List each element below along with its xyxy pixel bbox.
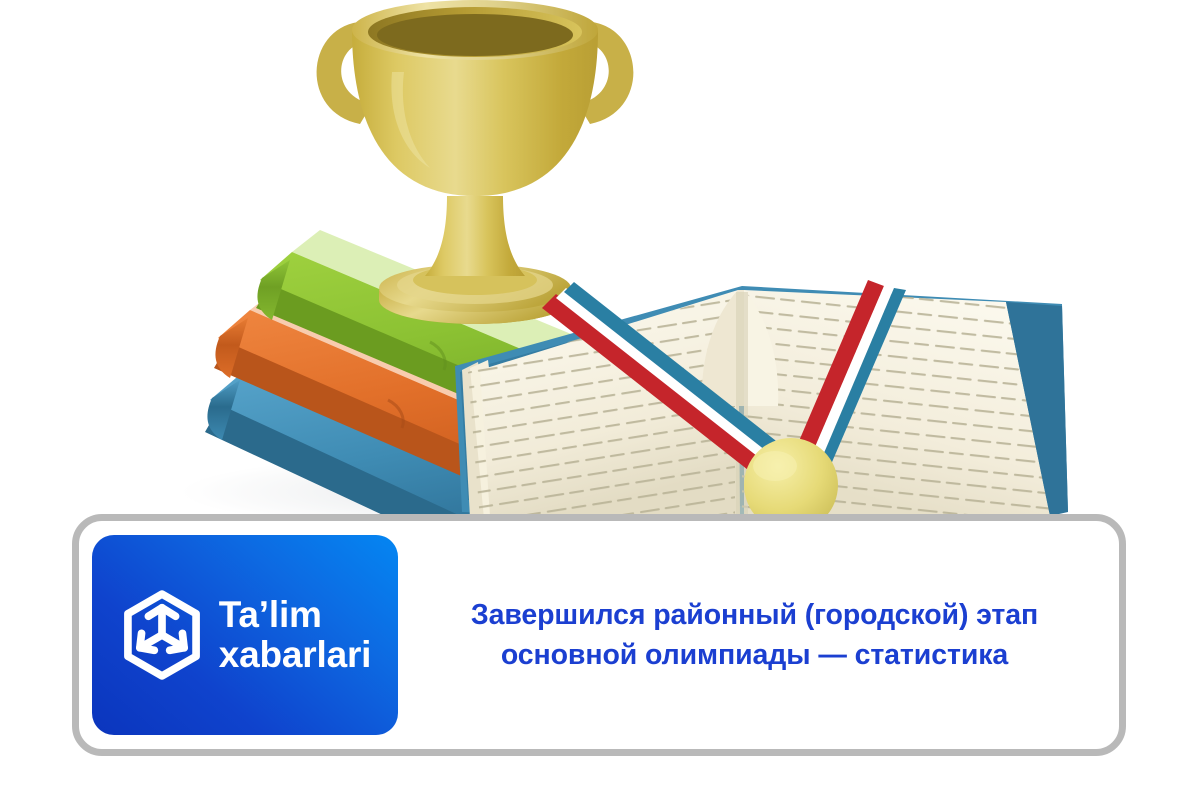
banner-card: Ta’lim xabarlari Завершился районный (го…: [72, 514, 1126, 756]
headline-line-2: основной олимпиады — статистика: [471, 635, 1038, 675]
headline-area: Завершился районный (городской) этап осн…: [398, 595, 1119, 676]
education-award-illustration: [0, 0, 1200, 530]
page-title: Завершился районный (городской) этап осн…: [471, 595, 1038, 676]
headline-line-1: Завершился районный (городской) этап: [471, 595, 1038, 635]
brand-line-1: Ta’lim: [219, 595, 371, 635]
brand-tile[interactable]: Ta’lim xabarlari: [92, 535, 398, 735]
cube-hexagon-icon: [119, 589, 205, 681]
hero-illustration: [0, 0, 1200, 530]
page-root: Ta’lim xabarlari Завершился районный (го…: [0, 0, 1200, 800]
brand-wordmark: Ta’lim xabarlari: [219, 595, 371, 675]
brand-line-2: xabarlari: [219, 635, 371, 675]
